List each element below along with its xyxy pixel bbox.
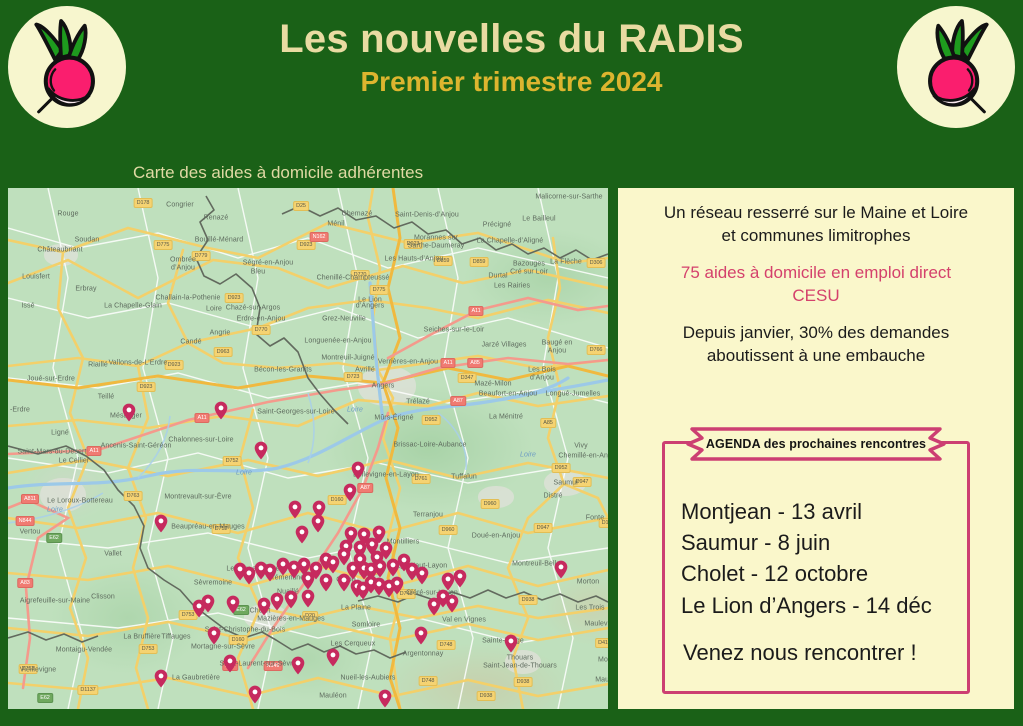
map-pin-marker[interactable] — [288, 500, 302, 519]
road-shield: D763 — [124, 491, 143, 501]
map-place-label: Le Bailleul — [522, 216, 555, 223]
map-place-label: Erbray — [75, 286, 96, 293]
map-place-label: Riaillé — [88, 362, 108, 369]
road-shield: N162 — [310, 232, 329, 242]
map-pin-marker[interactable] — [291, 656, 305, 675]
map-place-label: Saint-Jean-de-Thouars — [483, 663, 557, 670]
road-shield: D41 — [595, 638, 608, 648]
map-pin-marker[interactable] — [301, 589, 315, 608]
map-place-label: Argentonnay — [403, 651, 444, 658]
network-line-2: et communes limitrophes — [632, 225, 1000, 248]
road-shield: A87 — [357, 483, 373, 493]
road-shield: A11 — [194, 413, 209, 423]
map-place-label: Ombrée — [170, 257, 196, 264]
map-place-label: Tiffauges — [161, 634, 190, 641]
map-pin-marker[interactable] — [226, 595, 240, 614]
map-place-label: Longué-Jumelles — [546, 391, 601, 398]
map-pin-marker[interactable] — [248, 685, 262, 704]
road-shield: D748 — [437, 640, 456, 650]
map-place-label: d’Anjou — [530, 375, 554, 382]
road-shield: D938 — [514, 677, 533, 687]
map-place-label: Bécon-les-Granits — [254, 367, 312, 374]
map-place-label: Vallons-de-L’Erdre — [109, 360, 168, 367]
map-pin-marker[interactable] — [214, 401, 228, 420]
road-shield: D178 — [134, 198, 153, 208]
map-place-label: Congrier — [166, 202, 194, 209]
map-pin-marker[interactable] — [270, 592, 284, 611]
map-pin-marker[interactable] — [343, 483, 357, 502]
map-place-label: Bouillé-Ménard — [195, 237, 243, 244]
map-place-label: Nueil-les-Aubiers — [341, 675, 396, 682]
map-place-label: Tuffalun — [451, 474, 477, 481]
map-place-label: Chemazé — [342, 211, 373, 218]
map-pin-marker[interactable] — [351, 461, 365, 480]
agenda-event: Le Lion d’Angers - 14 déc — [681, 590, 957, 621]
road-shield: A87 — [450, 396, 466, 406]
map-place-label: Avrillé — [355, 367, 375, 374]
map-place-label: Mo — [598, 657, 608, 664]
map-place-label: Mazières-en-Mauges — [257, 616, 325, 623]
map-pin-marker[interactable] — [223, 654, 237, 673]
road-shield: D766 — [587, 345, 606, 355]
map-pin-marker[interactable] — [154, 514, 168, 533]
map-place-label: Saint-Mars-du-Desert — [18, 449, 87, 456]
map-place-label: Challain-la-Pothenie — [155, 295, 220, 302]
map-pin-marker[interactable] — [427, 597, 441, 616]
road-shield: D938 — [519, 595, 538, 605]
map-place-label: Ségré-en-Anjou — [243, 260, 293, 267]
map-river-label: Loire — [47, 507, 63, 514]
map-place-label: La Chapelle-Glain — [104, 303, 162, 310]
map-place-label: Vieillevigne — [20, 667, 56, 674]
map-place-label: Les Trois — [575, 605, 604, 612]
map-place-label: d’Angers — [356, 303, 384, 310]
map-place-label: Montrevault-sur-Èvre — [164, 494, 231, 501]
map-pin-marker[interactable] — [326, 555, 340, 574]
map-pin-marker[interactable] — [254, 561, 268, 580]
map-place-label: Distré — [544, 493, 563, 500]
map-pin-marker[interactable] — [284, 590, 298, 609]
road-shield: D938 — [477, 691, 496, 701]
road-shield: D923 — [165, 360, 184, 370]
info-panel: Un réseau resserré sur le Maine et Loire… — [618, 188, 1014, 709]
map-place-label: Louisfert — [22, 274, 50, 281]
map-place-label: Rouge — [57, 211, 78, 218]
hiring-stat-line-2: aboutissent à une embauche — [632, 345, 1000, 368]
road-shield: D923 — [225, 293, 244, 303]
road-shield: A11 — [86, 446, 101, 456]
road-shield: D723 — [344, 372, 363, 382]
map-place-label: Saint-Denis-d’Anjou — [395, 212, 459, 219]
road-shield: A85 — [540, 418, 556, 428]
map-place-label: Seiches-sur-le-Loir — [424, 327, 485, 334]
map-place-label: -Erdre — [10, 407, 30, 414]
map-place-label: Vertou — [20, 529, 41, 536]
road-shield: D775 — [154, 240, 173, 250]
road-shield: A83 — [17, 578, 33, 588]
road-shield: D25 — [293, 201, 309, 211]
map-pin-marker[interactable] — [504, 634, 518, 653]
map-place-label: Le Loroux-Bottereau — [47, 498, 113, 505]
map-place-label: Ménil — [327, 221, 344, 228]
map-place-label: Baugé en — [542, 340, 573, 347]
map-place-label: Mauléon — [319, 693, 347, 700]
map-place-label: Somloire — [352, 622, 380, 629]
map-place-label: Issé — [21, 303, 34, 310]
road-shield: A11 — [468, 306, 483, 316]
road-shield: A11 — [440, 358, 455, 368]
map-pin-marker[interactable] — [233, 562, 247, 581]
map-place-label: Saint-Georges-sur-Loire — [257, 409, 334, 416]
map-place-label: Teillé — [98, 394, 115, 401]
agenda-event-list: Montjean - 13 avril Saumur - 8 juin Chol… — [681, 496, 957, 621]
page-subtitle: Premier trimestre 2024 — [180, 66, 843, 98]
hiring-stat-line-1: Depuis janvier, 30% des demandes — [632, 322, 1000, 345]
map-river-label: Loire — [347, 407, 363, 414]
map-place-label: Trélazé — [406, 399, 430, 406]
agenda-banner-text: AGENDA des prochaines rencontres — [682, 423, 950, 465]
road-shield: D775 — [370, 285, 389, 295]
map-place-label: La Bruffière — [123, 634, 160, 641]
map-pin-marker[interactable] — [326, 648, 340, 667]
map-place-label: Candé — [180, 339, 201, 346]
map-place-label: Ligné — [51, 430, 69, 437]
map-place-label: Maulev — [584, 621, 607, 628]
map-pin-marker[interactable] — [445, 594, 459, 613]
map-pin-marker[interactable] — [390, 576, 404, 595]
map-place-label: Mortagne-sur-Sèvre — [191, 644, 255, 651]
map-place-label: Le Cellier — [59, 458, 90, 465]
map-place-label: Terranjou — [413, 512, 443, 519]
map-place-label: Vivy — [574, 443, 588, 450]
map-place-label: Les Rairies — [494, 283, 530, 290]
road-shield: D753 — [139, 644, 158, 654]
map-pin-marker[interactable] — [207, 626, 221, 645]
map-place-label: Sèvremoine — [194, 580, 232, 587]
map-place-label: Thouars — [507, 655, 533, 662]
map-place-label: Grez-Neuville — [322, 316, 366, 323]
agenda-event: Saumur - 8 juin — [681, 527, 957, 558]
road-shield: A85 — [467, 358, 483, 368]
map-place-label: Soudan — [75, 237, 100, 244]
map-place-label: La Flèche — [550, 259, 582, 266]
road-shield: N844 — [16, 516, 35, 526]
road-shield: D748 — [419, 676, 438, 686]
map-place-label: Mazé-Milon — [474, 381, 511, 388]
page-title: Les nouvelles du RADIS — [180, 18, 843, 60]
road-shield: D752 — [223, 456, 242, 466]
map-place-label: La Plaine — [341, 605, 371, 612]
map-place-label: Fonte — [586, 515, 604, 522]
map-place-label: Angers — [372, 383, 395, 390]
header-banner: Les nouvelles du RADIS Premier trimestre… — [0, 0, 1023, 140]
map-place-label: Vallet — [104, 551, 122, 558]
agenda-box: AGENDA des prochaines rencontres Montjea… — [662, 441, 970, 694]
map-place-label: Doué-en-Anjou — [472, 533, 520, 540]
map-place-label: Morannes sur — [414, 235, 458, 242]
map-place-label: Joué-sur-Erdre — [27, 376, 75, 383]
title-block: Les nouvelles du RADIS Premier trimestre… — [180, 18, 843, 98]
map-place-label: d’Anjou — [171, 265, 195, 272]
map-place-label: Chenillé-Champteussé — [317, 275, 390, 282]
map-place-label: Chazé-sur-Argos — [226, 305, 280, 312]
agenda-event: Montjean - 13 avril — [681, 496, 957, 527]
map-place-label: Chalonnes-sur-Loire — [168, 437, 233, 444]
map-place-label: Clisson — [91, 594, 115, 601]
map-place-label: Les Bois — [528, 367, 556, 374]
map-place-label: Maulé — [595, 677, 608, 684]
agenda-event: Cholet - 12 octobre — [681, 558, 957, 589]
radish-logo-left — [8, 6, 126, 128]
map-place-label: Aigrefeuille-sur-Maine — [20, 598, 90, 605]
map-place-label: Montreuil-Juigné — [321, 355, 374, 362]
network-description: Un réseau resserré sur le Maine et Loire… — [618, 188, 1014, 368]
road-shield: D770 — [252, 325, 271, 335]
network-line-1: Un réseau resserré sur le Maine et Loire — [632, 202, 1000, 225]
map-place-label: Angrie — [210, 330, 231, 337]
map-place-label: Longuenée-en-Anjou — [304, 338, 371, 345]
map-place-label: Verrières-en-Anjou — [378, 359, 438, 366]
map-pin-marker[interactable] — [453, 569, 467, 588]
adherent-map[interactable]: D178D25D775D923D779D923D306D923D775D770D… — [8, 188, 608, 709]
road-shield: E62 — [46, 533, 62, 543]
map-pin-marker[interactable] — [295, 525, 309, 544]
infographic-page: Les nouvelles du RADIS Premier trimestre… — [0, 0, 1023, 726]
map-pin-marker[interactable] — [554, 560, 568, 579]
map-place-label: Chemillé-en-Anjou — [558, 453, 608, 460]
map-place-label: Durtal — [488, 273, 507, 280]
road-shield: D960 — [481, 499, 500, 509]
map-place-label: Mûrs-Érigné — [374, 415, 413, 422]
map-place-label: Ancenis-Saint-Géréon — [101, 443, 172, 450]
map-place-label: Saumur — [553, 480, 578, 487]
map-place-label: Montaigu-Vendée — [56, 647, 112, 654]
map-place-label: La Chapelle-d’Aligné — [477, 238, 544, 245]
road-shield: D306 — [587, 258, 606, 268]
map-place-label: Val en Vignes — [442, 617, 486, 624]
map-place-label: Erdre-en-Anjou — [237, 316, 286, 323]
cesu-label: CESU — [632, 285, 1000, 308]
map-place-label: La Gaubretière — [172, 675, 220, 682]
road-shield: D963 — [214, 347, 233, 357]
map-pin-marker[interactable] — [337, 573, 351, 592]
road-shield: D960 — [439, 525, 458, 535]
map-pin-marker[interactable] — [276, 557, 290, 576]
map-pin-marker[interactable] — [414, 626, 428, 645]
map-pin-marker[interactable] — [154, 669, 168, 688]
road-shield: D952 — [552, 463, 571, 473]
road-shield: A811 — [21, 494, 39, 504]
map-pin-marker[interactable] — [378, 689, 392, 708]
map-place-label: Beaufort-en-Anjou — [479, 391, 538, 398]
helpers-count-line: 75 aides à domicile en emploi direct — [632, 262, 1000, 285]
map-river-label: Loire — [520, 452, 536, 459]
map-caption: Carte des aides à domicile adhérentes — [133, 163, 423, 183]
map-place-label: Bleu — [251, 269, 265, 276]
road-shield: D859 — [470, 257, 489, 267]
road-shield: D1137 — [77, 685, 98, 695]
map-place-label: Châteaubriant — [37, 247, 82, 254]
road-shield: E62 — [37, 693, 53, 703]
map-pin-marker[interactable] — [192, 599, 206, 618]
map-pin-marker[interactable] — [257, 597, 271, 616]
map-place-label: Les Cerqueux — [331, 641, 376, 648]
map-place-label: Cré sur Loir — [510, 269, 548, 276]
map-pin-marker[interactable] — [311, 514, 325, 533]
map-place-label: Malicorne-sur-Sarthe — [535, 194, 602, 201]
agenda-banner: AGENDA des prochaines rencontres — [682, 423, 950, 465]
map-place-label: Bazouges — [513, 261, 545, 268]
map-pin-marker[interactable] — [319, 573, 333, 592]
map-place-label: La Ménitré — [489, 414, 523, 421]
radish-logo-right — [897, 6, 1015, 128]
map-river-label: Loire — [236, 470, 252, 477]
map-pin-marker[interactable] — [254, 441, 268, 460]
map-place-label: Beaupréau-en-Mauges — [171, 524, 245, 531]
map-place-label: Sarthe-Daumeray — [408, 243, 465, 250]
road-shield: D923 — [137, 382, 156, 392]
map-place-label: Loire — [206, 306, 222, 313]
map-pin-marker[interactable] — [122, 403, 136, 422]
map-place-label: Anjou — [548, 348, 566, 355]
map-place-label: Brissac-Loire-Aubance — [394, 442, 467, 449]
road-shield: D947 — [534, 523, 553, 533]
map-place-label: Les Hauts-d’Anjou — [385, 256, 444, 263]
road-shield: D952 — [422, 415, 441, 425]
map-pin-marker[interactable] — [301, 571, 315, 590]
map-place-label: Renazé — [204, 215, 229, 222]
agenda-call-to-action: Venez nous rencontrer ! — [683, 640, 917, 666]
map-place-label: Précigné — [483, 222, 511, 229]
map-place-label: Morton — [577, 579, 599, 586]
map-place-label: Jarzé Villages — [482, 342, 527, 349]
map-pin-marker[interactable] — [415, 566, 429, 585]
